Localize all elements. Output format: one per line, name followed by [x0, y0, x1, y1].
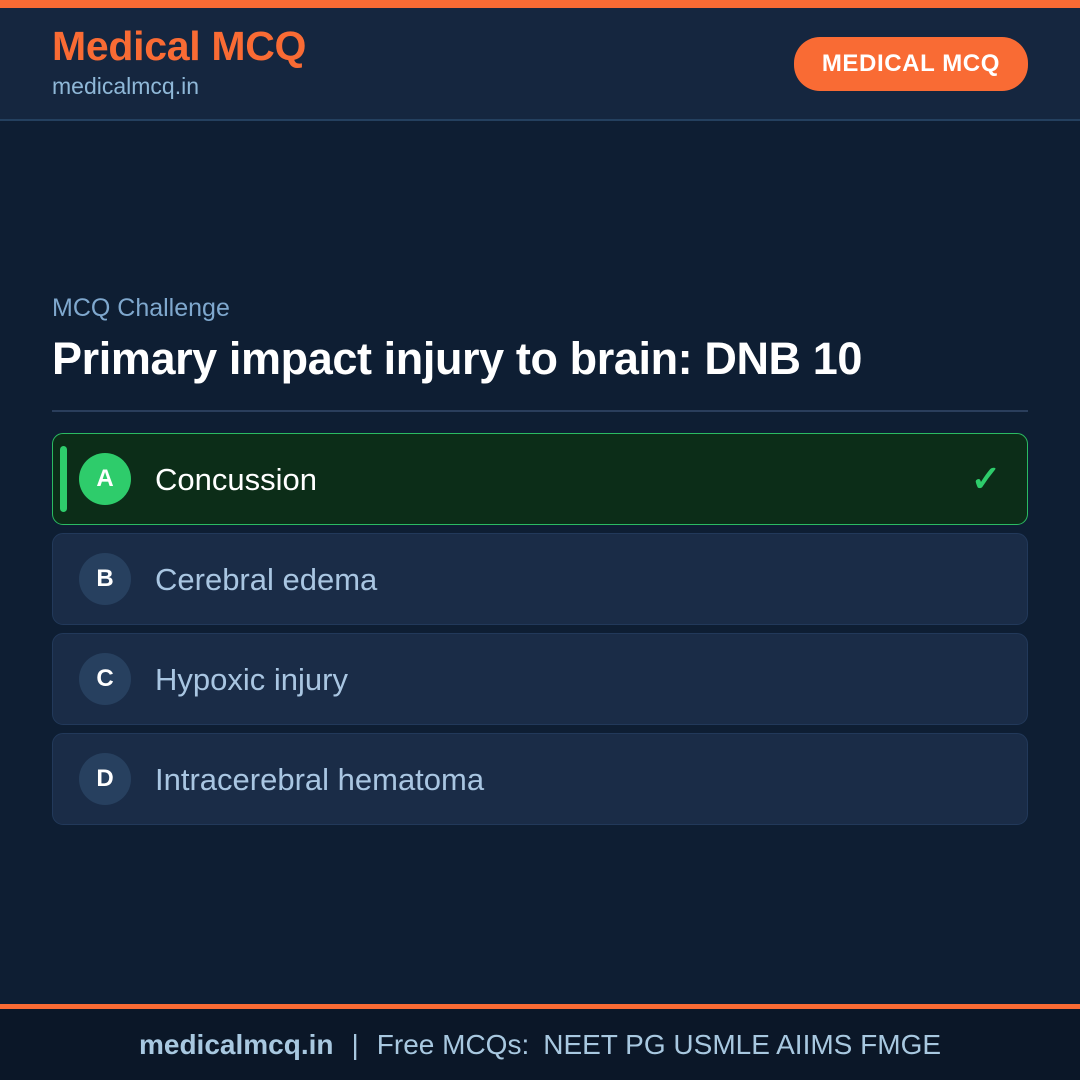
- option-text-c: Hypoxic injury: [155, 661, 1001, 698]
- option-letter-badge-d: D: [79, 753, 131, 805]
- footer-exams-label: Free MCQs:: [377, 1031, 529, 1059]
- option-letter-badge-b: B: [79, 553, 131, 605]
- question-title: Primary impact injury to brain: DNB 10: [52, 332, 982, 386]
- top-accent-rule: [0, 0, 1080, 8]
- option-text-b: Cerebral edema: [155, 561, 1001, 598]
- footer-site: medicalmcq.in: [139, 1031, 334, 1059]
- option-a[interactable]: A Concussion ✓: [52, 433, 1028, 525]
- option-text-d: Intracerebral hematoma: [155, 761, 1001, 798]
- bottom-spacer: [52, 825, 1028, 1004]
- header-bar: Medical MCQ medicalmcq.in MEDICAL MCQ: [0, 8, 1080, 121]
- mcq-card: Medical MCQ medicalmcq.in MEDICAL MCQ MC…: [0, 0, 1080, 1080]
- option-text-a: Concussion: [155, 461, 957, 498]
- main-content: MCQ Challenge Primary impact injury to b…: [0, 121, 1080, 1004]
- option-d[interactable]: D Intracerebral hematoma: [52, 733, 1028, 825]
- option-c[interactable]: C Hypoxic injury: [52, 633, 1028, 725]
- header-badge: MEDICAL MCQ: [794, 37, 1028, 91]
- option-b[interactable]: B Cerebral edema: [52, 533, 1028, 625]
- option-letter-badge-a: A: [79, 453, 131, 505]
- brand-subtitle: medicalmcq.in: [52, 71, 306, 102]
- footer-bar: medicalmcq.in | Free MCQs: NEET PG USMLE…: [0, 1004, 1080, 1080]
- brand: Medical MCQ medicalmcq.in: [52, 25, 306, 102]
- question-eyebrow: MCQ Challenge: [52, 293, 1028, 324]
- check-icon: ✓: [971, 461, 1001, 497]
- correct-accent-bar: [60, 446, 67, 512]
- option-letter-badge-c: C: [79, 653, 131, 705]
- options-list: A Concussion ✓ B Cerebral edema C Hypoxi…: [52, 433, 1028, 825]
- footer-exams: NEET PG USMLE AIIMS FMGE: [529, 1031, 941, 1059]
- title-divider: [52, 410, 1028, 412]
- top-spacer: [52, 121, 1028, 293]
- brand-title: Medical MCQ: [52, 25, 306, 68]
- footer-separator: |: [333, 1031, 376, 1059]
